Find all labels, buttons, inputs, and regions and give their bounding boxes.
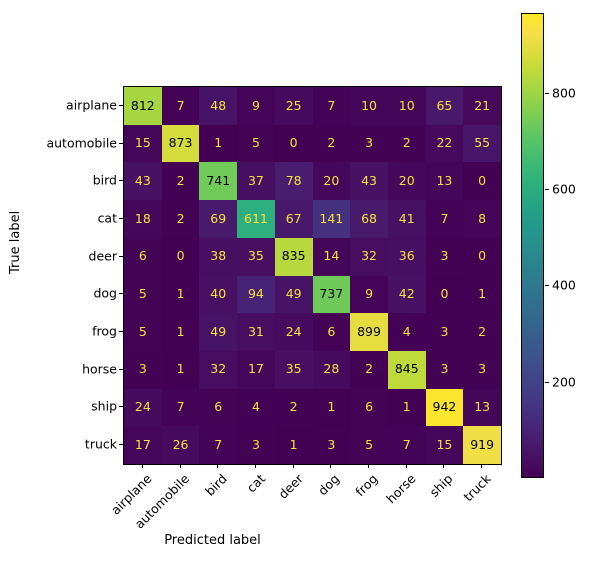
x-tick-mark	[293, 464, 294, 468]
colorbar-gradient	[521, 13, 544, 478]
colorbar-tick-mark	[545, 93, 549, 94]
y-tick-label: dog	[93, 286, 117, 301]
y-tick-mark	[119, 369, 123, 370]
y-tick-mark	[119, 293, 123, 294]
y-tick-mark	[119, 256, 123, 257]
colorbar-tick-mark	[545, 382, 549, 383]
y-tick-label: automobile	[46, 135, 117, 150]
y-tick-label: cat	[98, 210, 117, 225]
x-tick-mark	[368, 464, 369, 468]
y-tick-mark	[119, 444, 123, 445]
colorbar-tick-label: 400	[552, 278, 576, 293]
y-tick-label: airplane	[66, 97, 117, 112]
y-tick-label: truck	[85, 437, 117, 452]
y-tick-mark	[119, 406, 123, 407]
y-tick-mark	[119, 218, 123, 219]
colorbar-tick-mark	[545, 189, 549, 190]
y-tick-label: ship	[91, 399, 117, 414]
y-tick-mark	[119, 180, 123, 181]
y-tick-label: horse	[82, 361, 117, 376]
x-tick-mark	[217, 464, 218, 468]
x-tick-mark	[255, 464, 256, 468]
colorbar-tick-label: 600	[552, 182, 576, 197]
colorbar	[521, 13, 544, 478]
y-tick-label: frog	[92, 324, 117, 339]
x-tick-mark	[142, 464, 143, 468]
x-tick-mark	[406, 464, 407, 468]
colorbar-tick-label: 800	[552, 85, 576, 100]
x-tick-mark	[330, 464, 331, 468]
y-tick-label: deer	[89, 248, 117, 263]
x-axis-title-text: Predicted label	[164, 533, 261, 548]
confusion-matrix-figure: 8127489257101065211587315023222554327413…	[0, 0, 601, 561]
y-tick-mark	[119, 105, 123, 106]
x-tick-mark	[180, 464, 181, 468]
colorbar-tick-mark	[545, 285, 549, 286]
colorbar-tick-label: 200	[552, 374, 576, 389]
y-tick-mark	[119, 143, 123, 144]
y-tick-mark	[119, 331, 123, 332]
x-tick-mark	[443, 464, 444, 468]
y-tick-label: bird	[93, 173, 117, 188]
y-axis-title: True label	[8, 211, 23, 274]
x-tick-mark	[481, 464, 482, 468]
x-axis-title: Predicted label	[0, 533, 601, 548]
